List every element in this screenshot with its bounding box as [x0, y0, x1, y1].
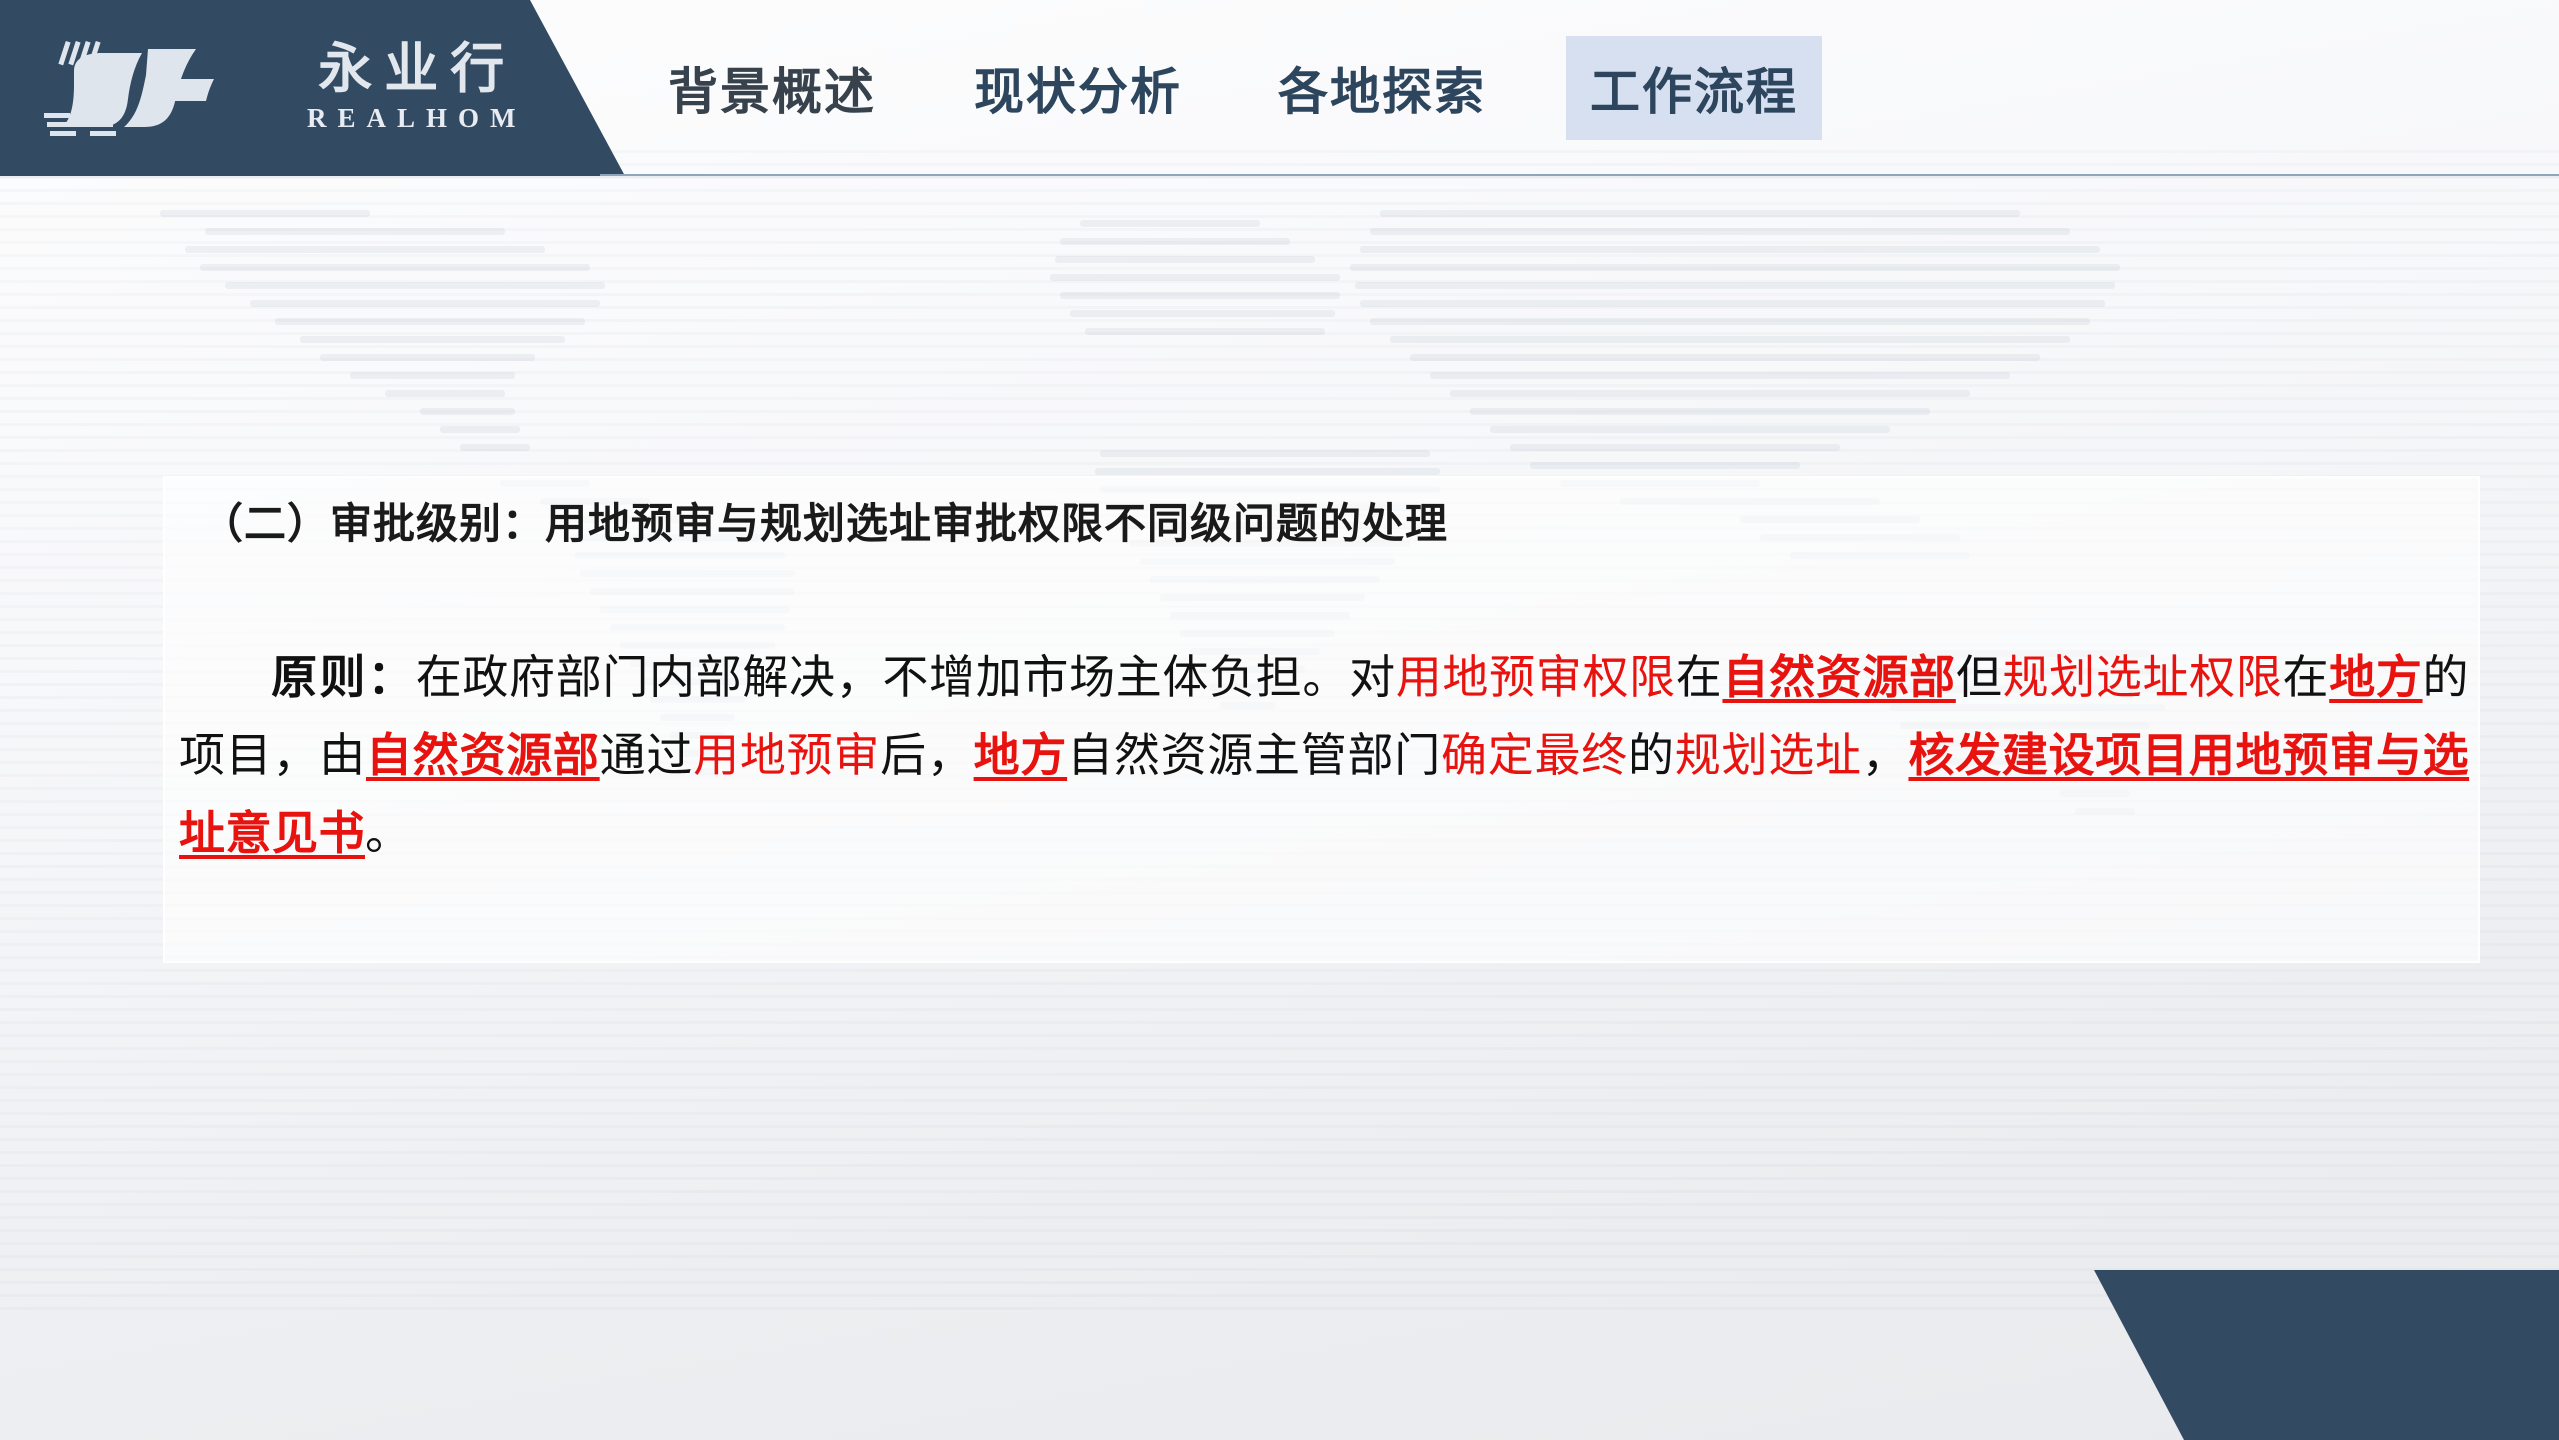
top-navigation: 背景概述 现状分析 各地探索 工作流程	[660, 0, 2490, 176]
brand-logo: 永业行 REALHOM	[38, 22, 598, 152]
nav-tab-workflow[interactable]: 工作流程	[1566, 36, 1822, 140]
body-seg-21: 。	[365, 806, 412, 860]
body-seg-6: 规划选址权限	[2003, 650, 2283, 704]
realhom-yh-monogram-icon	[38, 27, 278, 147]
body-seg-18: 规划选址	[1675, 728, 1862, 782]
body-seg-10: 自然资源部	[366, 728, 600, 782]
body-seg-19: ，	[1862, 728, 1909, 782]
body-seg-1: 在政府部门内部解决，不增加市场主体负担。对	[416, 650, 1396, 704]
nav-tab-current-analysis[interactable]: 现状分析	[966, 38, 1190, 138]
brand-name-cn: 永业行	[306, 40, 516, 97]
body-seg-7: 在	[2283, 650, 2330, 704]
content-card: （二）审批级别：用地预审与规划选址审批权限不同级问题的处理 原则：在政府部门内部…	[163, 476, 2480, 963]
section-body: 原则：在政府部门内部解决，不增加市场主体负担。对用地预审权限在自然资源部但规划选…	[179, 638, 2469, 872]
body-seg-15: 自然资源主管部门	[1067, 728, 1441, 782]
body-seg-13: 后，	[880, 728, 973, 782]
body-seg-5: 但	[1956, 650, 2003, 704]
body-seg-2: 用地预审权限	[1396, 650, 1676, 704]
body-seg-14: 地方	[974, 728, 1067, 782]
body-seg-17: 的	[1628, 728, 1675, 782]
body-lead-label: 原则：	[271, 650, 416, 704]
section-title: （二）审批级别：用地预审与规划选址审批权限不同级问题的处理	[201, 490, 1448, 551]
body-seg-11: 通过	[600, 728, 693, 782]
body-seg-4: 自然资源部	[1722, 650, 1955, 704]
body-seg-16: 确定最终	[1441, 728, 1628, 782]
nav-tab-regional-exploration[interactable]: 各地探索	[1270, 38, 1494, 138]
corner-decoration	[1959, 1270, 2559, 1440]
brand-name-en: REALHOM	[296, 103, 527, 134]
body-seg-3: 在	[1676, 650, 1723, 704]
header-divider-soft	[0, 176, 2559, 178]
body-seg-8: 地方	[2329, 650, 2422, 704]
nav-tab-background-overview[interactable]: 背景概述	[660, 38, 884, 138]
slide-root: 永业行 REALHOM 背景概述 现状分析 各地探索 工作流程 （二）审批级别：…	[0, 0, 2559, 1440]
page-header: 永业行 REALHOM 背景概述 现状分析 各地探索 工作流程	[0, 0, 2559, 178]
body-seg-12: 用地预审	[693, 728, 880, 782]
